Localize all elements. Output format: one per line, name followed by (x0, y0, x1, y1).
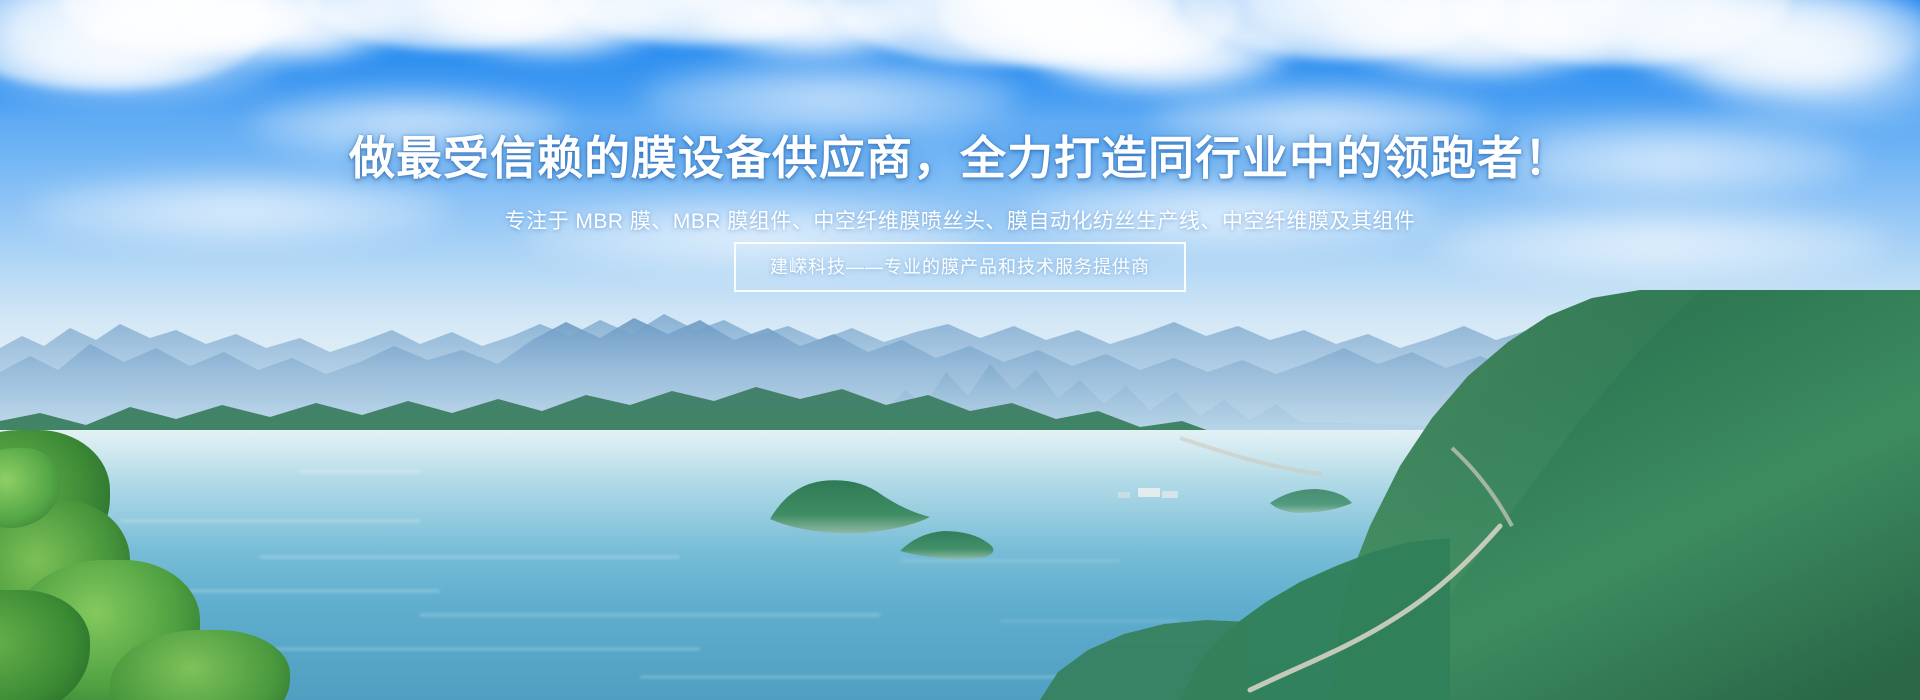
banner-headline: 做最受信赖的膜设备供应商，全力打造同行业中的领跑者！ (0, 132, 1920, 184)
hero-banner: 做最受信赖的膜设备供应商，全力打造同行业中的领跑者！ 专注于 MBR 膜、MBR… (0, 0, 1920, 700)
banner-text-overlay: 做最受信赖的膜设备供应商，全力打造同行业中的领跑者！ 专注于 MBR 膜、MBR… (0, 0, 1920, 700)
banner-tagline-box: 建嵘科技——专业的膜产品和技术服务提供商 (734, 242, 1186, 292)
banner-tagline-wrap: 建嵘科技——专业的膜产品和技术服务提供商 (0, 242, 1920, 292)
banner-subtitle: 专注于 MBR 膜、MBR 膜组件、中空纤维膜喷丝头、膜自动化纺丝生产线、中空纤… (0, 207, 1920, 237)
